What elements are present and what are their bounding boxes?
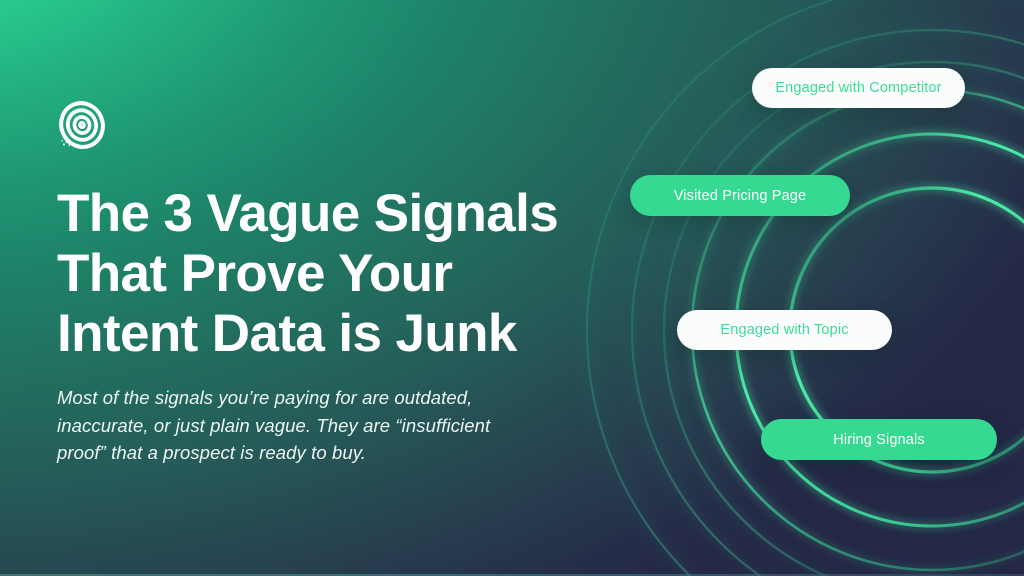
page-title: The 3 Vague Signals That Prove Your Inte…: [57, 184, 637, 364]
spiral-target-logo: [57, 100, 107, 152]
signal-pill-label: Engaged with Competitor: [775, 80, 941, 96]
signal-pill-engaged-with-topic[interactable]: Engaged with Topic: [677, 310, 892, 350]
signal-pill-visited-pricing-page[interactable]: Visited Pricing Page: [630, 175, 850, 216]
signal-pill-hiring-signals[interactable]: Hiring Signals: [761, 419, 997, 460]
signal-pill-label: Visited Pricing Page: [674, 188, 807, 204]
signal-pill-label: Engaged with Topic: [720, 322, 848, 338]
signal-pill-label: Hiring Signals: [833, 432, 925, 448]
subtitle-text: Most of the signals you’re paying for ar…: [57, 384, 577, 466]
slide-canvas: The 3 Vague Signals That Prove Your Inte…: [0, 0, 1024, 576]
signal-pill-engaged-with-competitor[interactable]: Engaged with Competitor: [752, 68, 965, 108]
content-column: The 3 Vague Signals That Prove Your Inte…: [57, 100, 637, 467]
